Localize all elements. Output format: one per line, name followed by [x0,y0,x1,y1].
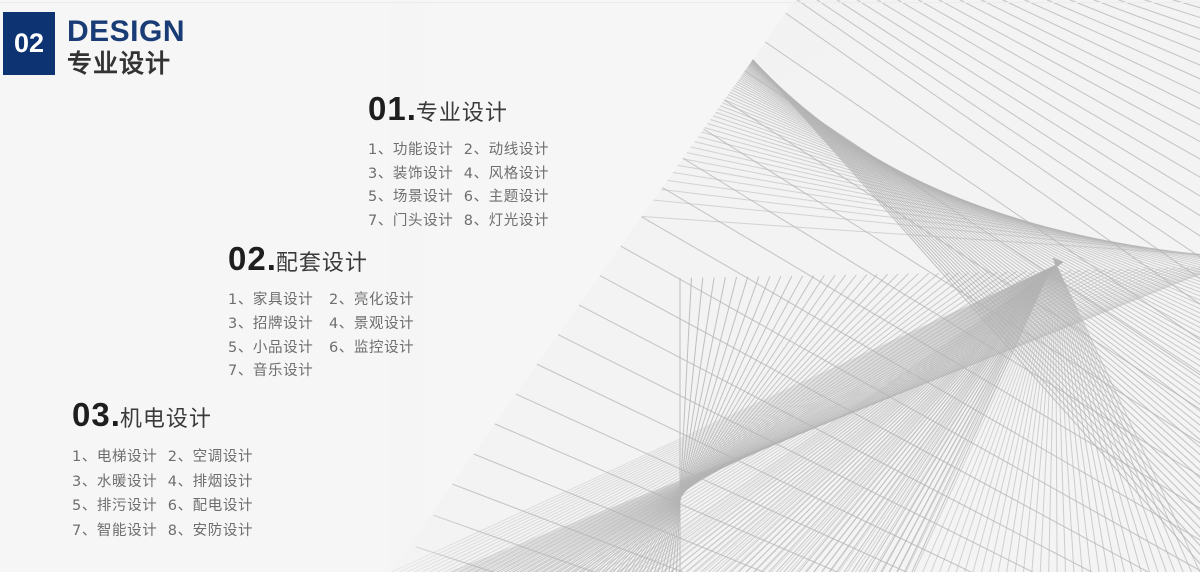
section-item-list: 1、功能设计 2、动线设计 3、装饰设计 4、风格设计 5、场景设计 6、主题设… [368,139,549,233]
list-item: 1、功能设计 2、动线设计 [368,139,549,163]
section-item-list: 1、电梯设计 2、空调设计 3、水暖设计 4、排烟设计 5、排污设计 6、配电设… [72,445,253,543]
list-item: 5、小品设计 6、监控设计 [228,337,414,361]
section-name: 机电设计 [120,407,212,432]
list-item: 1、家具设计 2、亮化设计 [228,289,414,313]
section-separator: . [407,90,416,127]
section-item-list: 1、家具设计 2、亮化设计 3、招牌设计 4、景观设计 5、小品设计 6、监控设… [228,289,414,384]
list-item: 7、智能设计 8、安防设计 [72,519,253,544]
list-item: 3、招牌设计 4、景观设计 [228,313,414,337]
section-separator: . [267,240,276,277]
section-name: 配套设计 [276,251,368,276]
list-item: 7、音乐设计 [228,360,414,384]
slide-canvas: 02 DESIGN 专业设计 01.专业设计 1、功能设计 2、动线设计 3、装… [0,0,1200,572]
section-name: 专业设计 [416,101,508,126]
section-number: 03 [72,396,111,433]
page-title-chinese: 专业设计 [67,51,185,76]
slide-header: 02 DESIGN 专业设计 [3,12,185,76]
top-hairline-divider [0,2,1200,3]
section-separator: . [111,396,120,433]
list-item: 3、装饰设计 4、风格设计 [368,163,549,187]
section-title: 02.配套设计 [228,242,414,275]
section-title: 03.机电设计 [72,398,253,431]
header-title-group: DESIGN 专业设计 [67,17,185,76]
section-block-03: 03.机电设计 1、电梯设计 2、空调设计 3、水暖设计 4、排烟设计 5、排污… [72,398,253,543]
list-item: 3、水暖设计 4、排烟设计 [72,470,253,495]
section-title: 01.专业设计 [368,92,549,125]
list-item: 5、排污设计 6、配电设计 [72,494,253,519]
section-number: 01 [368,90,407,127]
section-number-badge: 02 [3,12,55,75]
section-block-01: 01.专业设计 1、功能设计 2、动线设计 3、装饰设计 4、风格设计 5、场景… [368,92,549,233]
list-item: 5、场景设计 6、主题设计 [368,186,549,210]
section-number: 02 [228,240,267,277]
list-item: 7、门头设计 8、灯光设计 [368,210,549,234]
section-block-02: 02.配套设计 1、家具设计 2、亮化设计 3、招牌设计 4、景观设计 5、小品… [228,242,414,384]
page-title-english: DESIGN [67,17,185,47]
list-item: 1、电梯设计 2、空调设计 [72,445,253,470]
